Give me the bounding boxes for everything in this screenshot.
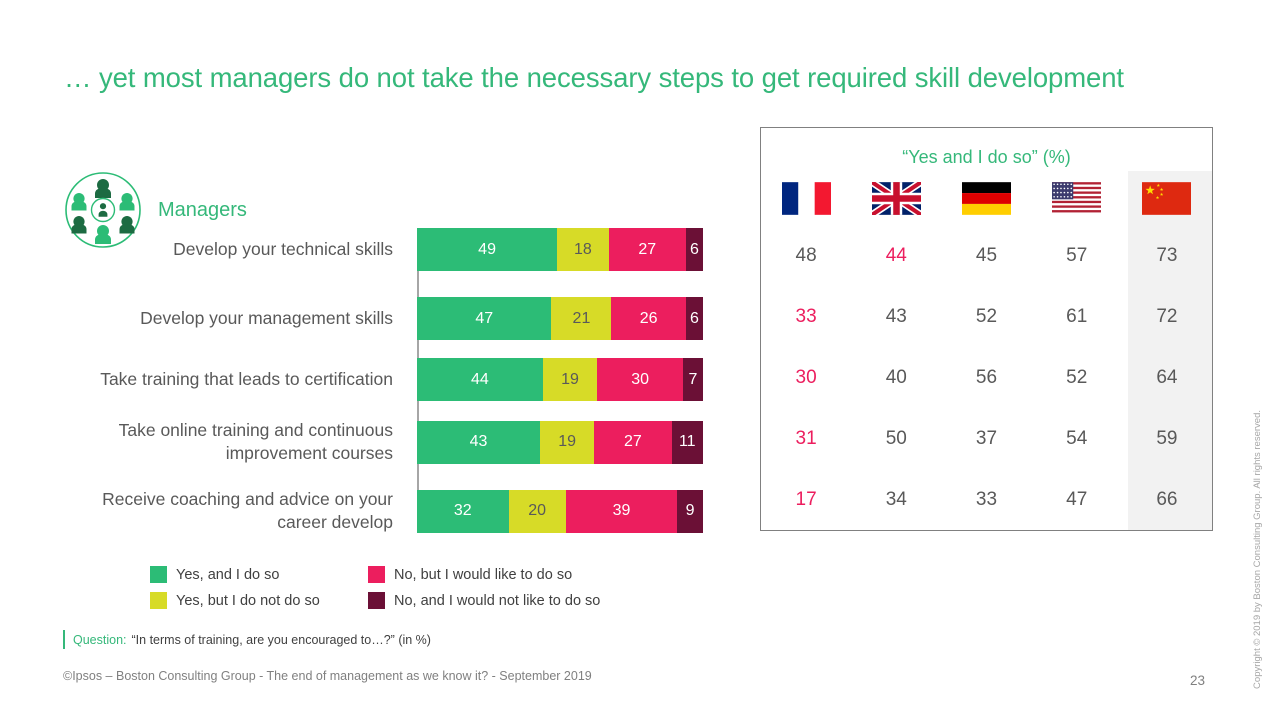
bar-category-label: Take online training and continuous impr… [60, 419, 405, 465]
table-cell: 34 [851, 469, 941, 530]
legend-swatch [368, 566, 385, 583]
table-header-china [1122, 171, 1212, 226]
table-header-united-states [1032, 171, 1122, 226]
bar-category-label: Take training that leads to certificatio… [60, 368, 405, 391]
bar-category-label: Receive coaching and advice on your care… [60, 488, 405, 534]
vertical-copyright: Copyright © 2019 by Boston Consulting Gr… [1252, 410, 1263, 689]
flag-usa-icon [1052, 182, 1101, 215]
bar-segment: 11 [672, 421, 703, 464]
table-cell: 52 [941, 287, 1031, 348]
table-cell: 48 [761, 226, 851, 287]
bar-row: Take online training and continuous impr… [60, 419, 705, 465]
table-cell: 47 [1032, 469, 1122, 530]
bar-row: Take training that leads to certificatio… [60, 358, 705, 401]
bar-segment: 44 [417, 358, 543, 401]
table-header-france [761, 171, 851, 226]
table-cell: 72 [1122, 287, 1212, 348]
bar-segment: 20 [509, 490, 566, 533]
bar-row: Develop your technical skills4918276 [60, 228, 705, 271]
legend-item[interactable]: No, and I would not like to do so [368, 592, 600, 609]
country-comparison-table: “Yes and I do so” (%) 484445577333435261… [760, 127, 1213, 531]
question-accent-bar [63, 630, 65, 649]
bar-segment: 9 [677, 490, 703, 533]
bar-track: 3220399 [417, 490, 703, 533]
table-cell: 45 [941, 226, 1031, 287]
legend-label: Yes, and I do so [176, 567, 279, 583]
table-cell: 66 [1122, 469, 1212, 530]
table-cell: 52 [1032, 348, 1122, 409]
bar-segment: 19 [543, 358, 597, 401]
table-cell: 43 [851, 287, 941, 348]
bar-segment: 27 [594, 421, 671, 464]
table-cell: 30 [761, 348, 851, 409]
question-text: “In terms of training, are you encourage… [132, 633, 431, 647]
bar-segment: 18 [557, 228, 608, 271]
legend-label: Yes, but I do not do so [176, 593, 320, 609]
table-cell: 17 [761, 469, 851, 530]
slide-canvas: … yet most managers do not take the nece… [0, 0, 1280, 720]
flag-germany-icon [962, 182, 1011, 215]
legend-label: No, and I would not like to do so [394, 593, 600, 609]
legend-item[interactable]: Yes, but I do not do so [150, 592, 368, 609]
bar-segment: 7 [683, 358, 703, 401]
bar-track: 43192711 [417, 421, 703, 464]
bar-category-label: Develop your management skills [60, 307, 405, 330]
bar-track: 4918276 [417, 228, 703, 271]
question-note: Question: “In terms of training, are you… [63, 630, 431, 649]
legend-item[interactable]: No, but I would like to do so [368, 566, 600, 583]
table-cell: 31 [761, 408, 851, 469]
table-cell: 33 [941, 469, 1031, 530]
bar-category-label: Develop your technical skills [60, 238, 405, 261]
chart-legend: Yes, and I do soNo, but I would like to … [150, 566, 600, 609]
bar-track: 4419307 [417, 358, 703, 401]
bar-row: Receive coaching and advice on your care… [60, 488, 705, 534]
flag-uk-icon [872, 182, 921, 215]
table-header-united-kingdom [851, 171, 941, 226]
bar-segment: 19 [540, 421, 594, 464]
table-cell: 61 [1032, 287, 1122, 348]
source-note: ©Ipsos – Boston Consulting Group - The e… [63, 669, 592, 683]
bar-segment: 30 [597, 358, 683, 401]
table-cell: 50 [851, 408, 941, 469]
table-cell: 33 [761, 287, 851, 348]
bar-segment: 49 [417, 228, 557, 271]
page-number: 23 [1190, 673, 1205, 688]
table-title: “Yes and I do so” (%) [761, 147, 1212, 168]
stacked-bar-chart: Develop your technical skills4918276Deve… [60, 228, 705, 533]
table-cell: 54 [1032, 408, 1122, 469]
table-cell: 57 [1032, 226, 1122, 287]
bar-row: Develop your management skills4721266 [60, 297, 705, 340]
flag-france-icon [782, 182, 831, 215]
bar-segment: 21 [551, 297, 611, 340]
bar-segment: 6 [686, 297, 703, 340]
question-label: Question: [73, 633, 127, 647]
bar-segment: 47 [417, 297, 551, 340]
segment-group-label: Managers [158, 199, 247, 222]
legend-swatch [150, 566, 167, 583]
legend-swatch [150, 592, 167, 609]
page-title: … yet most managers do not take the nece… [64, 60, 1154, 95]
legend-item[interactable]: Yes, and I do so [150, 566, 368, 583]
table-cell: 56 [941, 348, 1031, 409]
bar-track: 4721266 [417, 297, 703, 340]
flag-china-icon [1142, 182, 1191, 215]
table-header-germany [941, 171, 1031, 226]
table-cell: 40 [851, 348, 941, 409]
bar-segment: 6 [686, 228, 703, 271]
table-cell: 59 [1122, 408, 1212, 469]
bar-segment: 32 [417, 490, 509, 533]
table-cell: 44 [851, 226, 941, 287]
table-cell: 73 [1122, 226, 1212, 287]
legend-label: No, but I would like to do so [394, 567, 572, 583]
bar-segment: 26 [611, 297, 685, 340]
legend-swatch [368, 592, 385, 609]
bar-segment: 27 [609, 228, 686, 271]
table-cell: 37 [941, 408, 1031, 469]
bar-segment: 39 [566, 490, 678, 533]
table-cell: 64 [1122, 348, 1212, 409]
bar-segment: 43 [417, 421, 540, 464]
